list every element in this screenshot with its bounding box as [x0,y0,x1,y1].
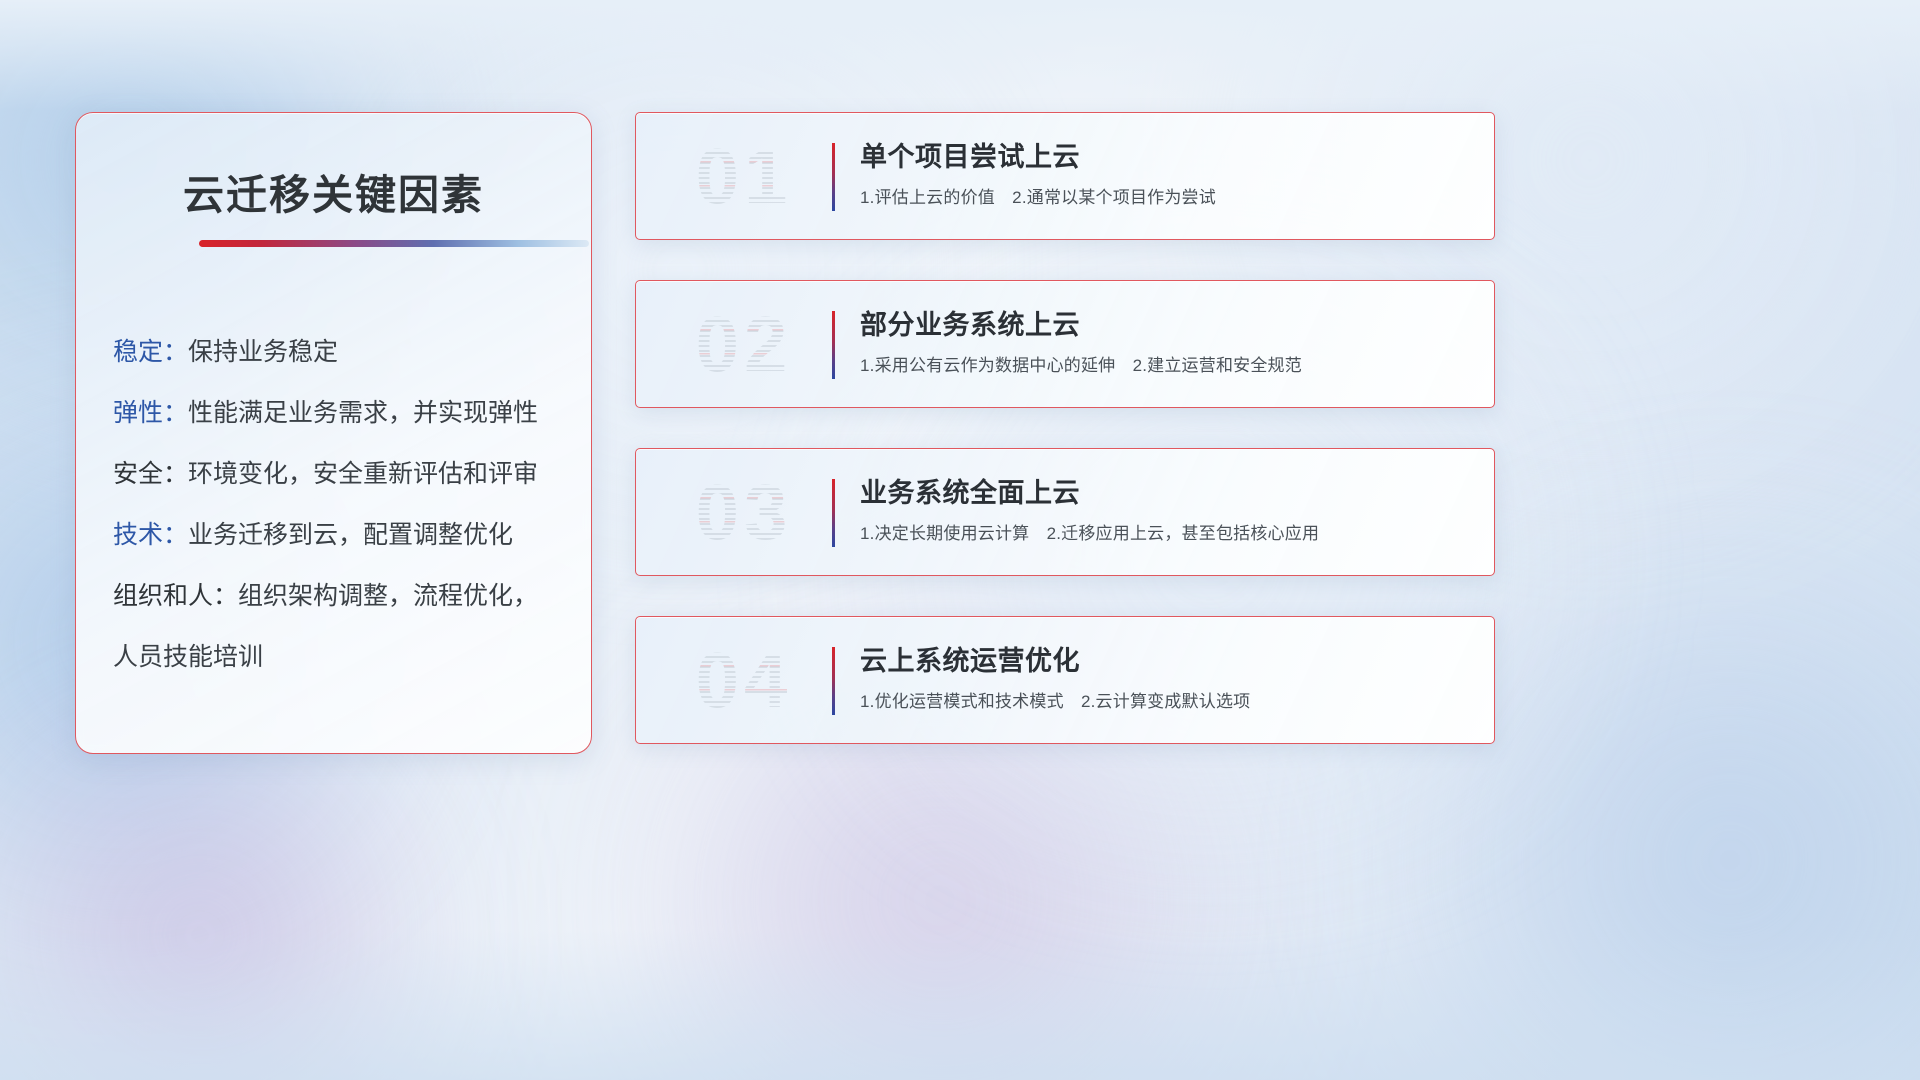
stage-title: 部分业务系统上云 [860,307,1470,343]
stage-number-watermark-tint: 01 [664,127,824,225]
stage-card[interactable]: 0202部分业务系统上云1.采用公有云作为数据中心的延伸 2.建立运营和安全规范 [635,280,1495,408]
stage-description: 1.评估上云的价值 2.通常以某个项目作为尝试 [860,186,1470,210]
key-factor-label: 技术： [113,515,188,551]
key-factor-value: 业务迁移到云，配置调整优化 [188,515,513,551]
key-factor-row: 技术：业务迁移到云，配置调整优化 [113,502,571,563]
key-factor-row: 稳定：保持业务稳定 [113,319,571,380]
stage-card-body: 云上系统运营优化1.优化运营模式和技术模式 2.云计算变成默认选项 [860,643,1470,714]
key-factor-value: 组织架构调整，流程优化， [238,576,538,612]
stage-description: 1.决定长期使用云计算 2.迁移应用上云，甚至包括核心应用 [860,522,1470,546]
stage-card[interactable]: 0404云上系统运营优化1.优化运营模式和技术模式 2.云计算变成默认选项 [635,616,1495,744]
stage-divider-accent [832,143,835,211]
key-factor-row: 弹性：性能满足业务需求，并实现弹性 [113,380,571,441]
stage-card[interactable]: 0303业务系统全面上云1.决定长期使用云计算 2.迁移应用上云，甚至包括核心应… [635,448,1495,576]
stage-card-body: 单个项目尝试上云1.评估上云的价值 2.通常以某个项目作为尝试 [860,139,1470,210]
stage-number-watermark-tint: 02 [664,295,824,393]
stage-number-watermark-tint: 04 [664,631,824,729]
stage-title: 业务系统全面上云 [860,475,1470,511]
background-top-wash [0,0,1920,110]
key-factor-value: 环境变化，安全重新评估和评审 [188,454,538,490]
stage-card[interactable]: 0101单个项目尝试上云1.评估上云的价值 2.通常以某个项目作为尝试 [635,112,1495,240]
key-factor-row: 人员技能培训 [113,624,571,685]
key-factor-value: 性能满足业务需求，并实现弹性 [188,393,538,429]
stage-number-watermark-tint: 03 [664,463,824,561]
key-factor-label: 稳定： [113,332,188,368]
stage-description: 1.优化运营模式和技术模式 2.云计算变成默认选项 [860,690,1470,714]
stage-title: 单个项目尝试上云 [860,139,1470,175]
key-factors-panel: 云迁移关键因素 稳定：保持业务稳定弹性：性能满足业务需求，并实现弹性安全：环境变… [75,112,592,754]
stage-divider-accent [832,311,835,379]
panel-title: 云迁移关键因素 [76,161,591,221]
key-factor-value: 人员技能培训 [113,637,263,673]
background-bottom-wash [0,930,1920,1080]
key-factor-row: 安全：环境变化，安全重新评估和评审 [113,441,571,502]
stage-card-body: 部分业务系统上云1.采用公有云作为数据中心的延伸 2.建立运营和安全规范 [860,307,1470,378]
stage-divider-accent [832,647,835,715]
key-factor-row: 组织和人：组织架构调整，流程优化， [113,563,571,624]
key-factor-value: 保持业务稳定 [188,332,338,368]
key-factor-label: 弹性： [113,393,188,429]
title-underline-accent [199,240,589,247]
key-factor-label: 组织和人： [113,576,238,612]
stage-divider-accent [832,479,835,547]
stage-description: 1.采用公有云作为数据中心的延伸 2.建立运营和安全规范 [860,354,1470,378]
cloud-migration-stages: 0101单个项目尝试上云1.评估上云的价值 2.通常以某个项目作为尝试0202部… [635,112,1495,784]
key-factors-list: 稳定：保持业务稳定弹性：性能满足业务需求，并实现弹性安全：环境变化，安全重新评估… [113,319,571,685]
stage-title: 云上系统运营优化 [860,643,1470,679]
stage-card-body: 业务系统全面上云1.决定长期使用云计算 2.迁移应用上云，甚至包括核心应用 [860,475,1470,546]
key-factor-label: 安全： [113,454,188,490]
